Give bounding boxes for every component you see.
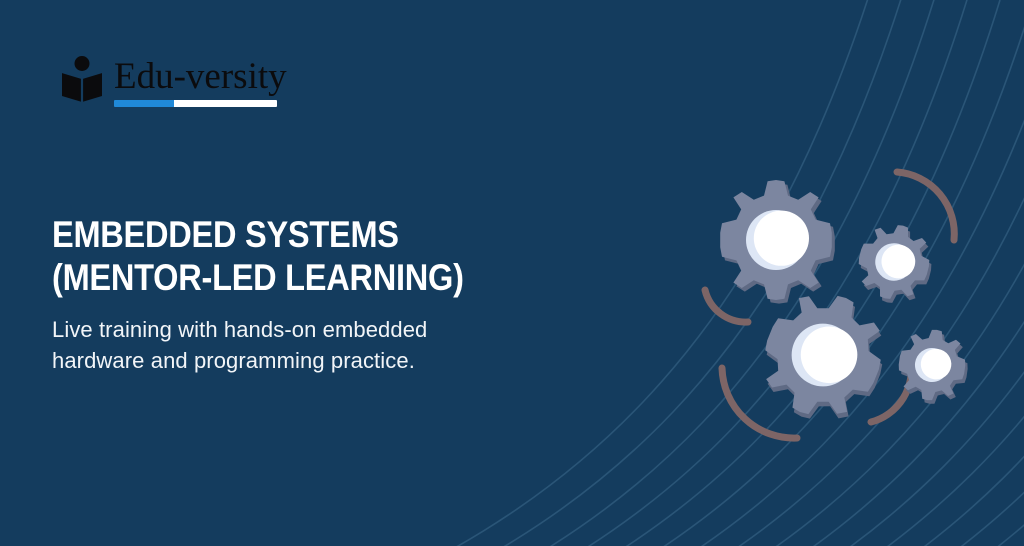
arc-mid-left — [705, 290, 748, 322]
gear-large-bottom — [746, 277, 902, 438]
page-title: EMBEDDED SYSTEMS (MENTOR-LED LEARNING) — [52, 214, 510, 300]
brand-logo[interactable]: Edu-versity — [60, 55, 287, 107]
gears-illustration — [692, 150, 1012, 450]
brand-wordmark: Edu-versity — [114, 58, 287, 95]
gear-small-right — [850, 217, 940, 311]
page-subtitle: Live training with hands-on embedded har… — [52, 314, 572, 376]
open-book-reader-icon — [60, 55, 104, 103]
brand-underline-bar — [114, 100, 277, 107]
banner-text-block: EMBEDDED SYSTEMS (MENTOR-LED LEARNING) L… — [52, 214, 572, 376]
brand-underline-blue-segment — [114, 100, 174, 107]
course-banner: Edu-versity EMBEDDED SYSTEMS (MENTOR-LED… — [0, 0, 1024, 546]
brand-underline-white-segment — [174, 100, 277, 107]
gear-large-top-left — [720, 180, 835, 304]
